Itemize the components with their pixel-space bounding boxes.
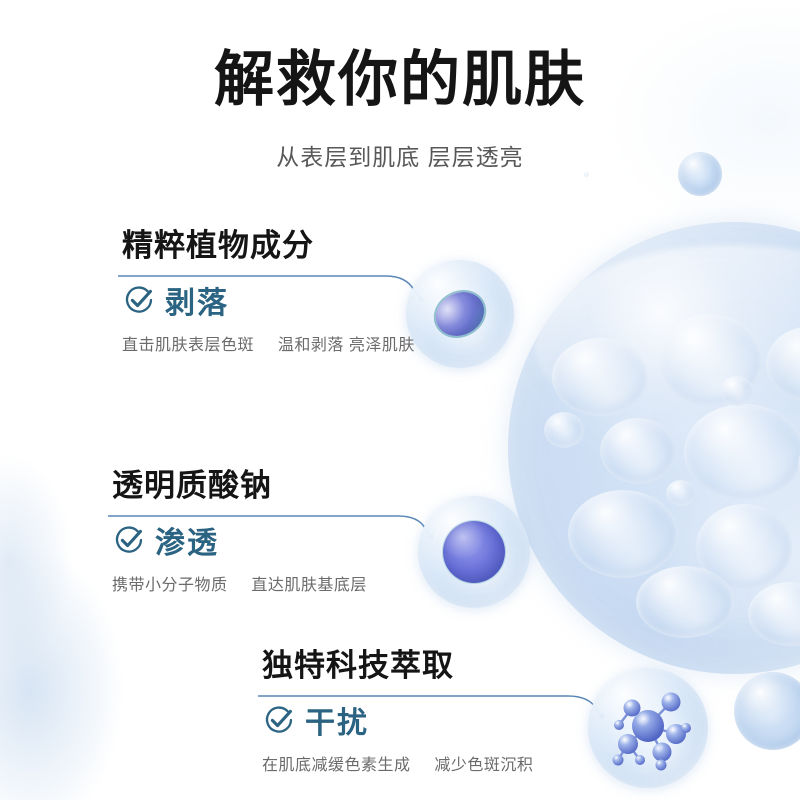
feature-key-row: 渗透 [112,518,367,562]
feature-key-row: 剥落 [122,278,415,322]
page-subtitle: 从表层到肌底 层层透亮 [0,138,800,172]
hero-gel-sphere-graphic [508,222,800,674]
feature-desc-left: 在肌底减缓色素生成 [262,757,411,774]
core-bubble-icon [418,496,530,608]
feature-description: 携带小分子物质 直达肌肤基底层 [112,571,367,595]
feature-description: 在肌底减缓色素生成 减少色斑沉积 [262,751,533,775]
ambient-bubble-tiny [584,172,589,177]
feature-desc-left: 携带小分子物质 [112,577,228,594]
feature-title: 精粹植物成分 [122,228,415,264]
feature-desc-left: 直击肌肤表层色斑 [122,337,254,354]
molecule-bubble-icon [588,668,708,788]
feature-keyword: 干扰 [305,698,369,742]
feature-block-3: 独特科技萃取 干扰 在肌底减缓色素生成 减少色斑沉积 [262,648,533,775]
feature-block-2: 透明质酸钠 渗透 携带小分子物质 直达肌肤基底层 [112,468,367,595]
feature-keyword: 剥落 [165,278,229,322]
feature-description: 直击肌肤表层色斑 温和剥落 亮泽肌肤 [122,331,415,355]
feature-desc-right: 温和剥落 亮泽肌肤 [278,337,415,354]
molecule-diagram-icon [588,668,708,788]
feature-title: 独特科技萃取 [262,648,533,684]
feature-title: 透明质酸钠 [112,468,367,504]
feature-block-1: 精粹植物成分 剥落 直击肌肤表层色斑 温和剥落 亮泽肌肤 [122,228,415,355]
feature-keyword: 渗透 [155,518,219,562]
lens-bubble-icon [406,260,514,368]
violet-lens-shape [428,284,492,345]
feature-desc-right: 直达肌肤基底层 [251,577,367,594]
feature-desc-right: 减少色斑沉积 [434,757,533,774]
ambient-bubble-bottomright [734,672,800,750]
page-title: 解救你的肌肤 [0,48,800,113]
check-circle-icon [262,703,296,737]
violet-core-shape [443,521,505,583]
product-feature-poster: 解救你的肌肤 从表层到肌底 层层透亮 精粹植物成分 剥落 直击肌肤表层色斑 温和… [0,0,800,800]
check-circle-icon [112,523,146,557]
feature-key-row: 干扰 [262,698,533,742]
check-circle-icon [122,283,156,317]
